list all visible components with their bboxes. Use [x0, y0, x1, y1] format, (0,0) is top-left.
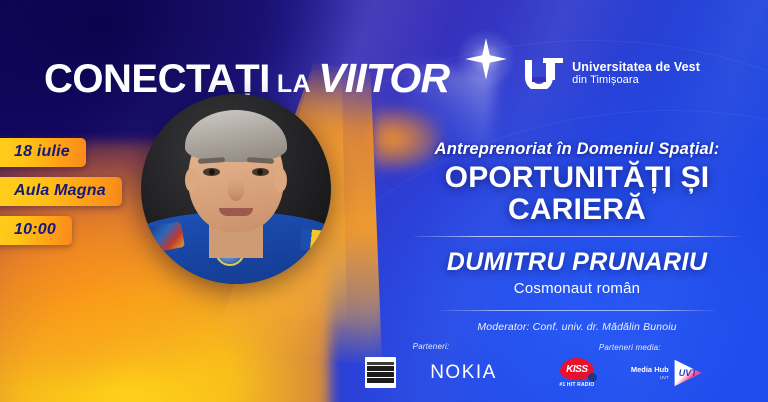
afcn-logo	[365, 357, 396, 388]
university-name: Universitatea de Vest din Timișoara	[572, 60, 700, 88]
divider-top	[414, 236, 740, 237]
headline-part-3: VIITOR	[318, 58, 449, 99]
partners-group: Parteneri: NOKIA	[365, 342, 497, 388]
kiss-fm-logo: KISS #1 HIT RADIO	[557, 358, 597, 388]
sparkle-star-icon	[465, 38, 507, 80]
talk-title: OPORTUNITĂȚI ȘI CARIERĂ	[400, 162, 754, 225]
university-name-line1: Universitatea de Vest	[572, 60, 700, 75]
media-hub-line3: UVT	[631, 375, 669, 380]
talk-details: Antreprenoriat în Domeniul Spațial: OPOR…	[400, 140, 754, 333]
pill-time: 10:00	[0, 216, 72, 245]
media-hub-line2: Hub	[654, 365, 669, 374]
moderator-text: Moderator: Conf. univ. dr. Mădălin Bunoi…	[400, 321, 754, 333]
portrait-hair	[185, 110, 287, 162]
pill-date: 18 iulie	[0, 138, 86, 167]
media-hub-uvt-logo: Media Hub UVT UVT	[631, 358, 703, 388]
kiss-tagline: #1 HIT RADIO	[559, 382, 594, 388]
media-hub-line1: Media	[631, 365, 652, 374]
uvt-logo-icon	[523, 58, 563, 89]
event-info-pills: 18 iulie Aula Magna 10:00	[0, 138, 122, 245]
speaker-name: DUMITRU PRUNARIU	[400, 248, 754, 277]
headline-part-1: CONECTAȚI	[44, 59, 270, 99]
media-partners-group: Parteneri media: KISS #1 HIT RADIO Media…	[557, 343, 703, 388]
partners-bar: Parteneri: NOKIA Parteneri media: KISS #…	[0, 342, 768, 388]
media-hub-text: Media Hub UVT	[631, 366, 669, 380]
headline-part-2: LA	[277, 72, 311, 97]
portrait-romanian-flag	[300, 228, 331, 252]
divider-bottom	[439, 310, 715, 311]
speaker-portrait	[141, 94, 331, 284]
kiss-logo-text: KISS	[566, 364, 587, 375]
play-button-icon: UVT	[673, 358, 703, 388]
poster-headline: CONECTAȚI LA VIITOR	[44, 58, 449, 99]
university-logo: Universitatea de Vest din Timișoara	[523, 58, 700, 89]
pill-venue: Aula Magna	[0, 177, 122, 206]
speaker-role: Cosmonaut român	[400, 280, 754, 297]
event-poster: CONECTAȚI LA VIITOR Universitatea de Ves…	[0, 0, 768, 402]
nokia-logo: NOKIA	[430, 362, 497, 384]
media-hub-mark: UVT	[679, 368, 697, 378]
portrait-mission-patch-left	[147, 221, 185, 253]
partners-label: Parteneri:	[413, 342, 450, 351]
talk-subtitle: Antreprenoriat în Domeniul Spațial:	[400, 140, 754, 159]
university-name-line2: din Timișoara	[572, 74, 700, 87]
media-partners-label: Parteneri media:	[599, 343, 661, 352]
